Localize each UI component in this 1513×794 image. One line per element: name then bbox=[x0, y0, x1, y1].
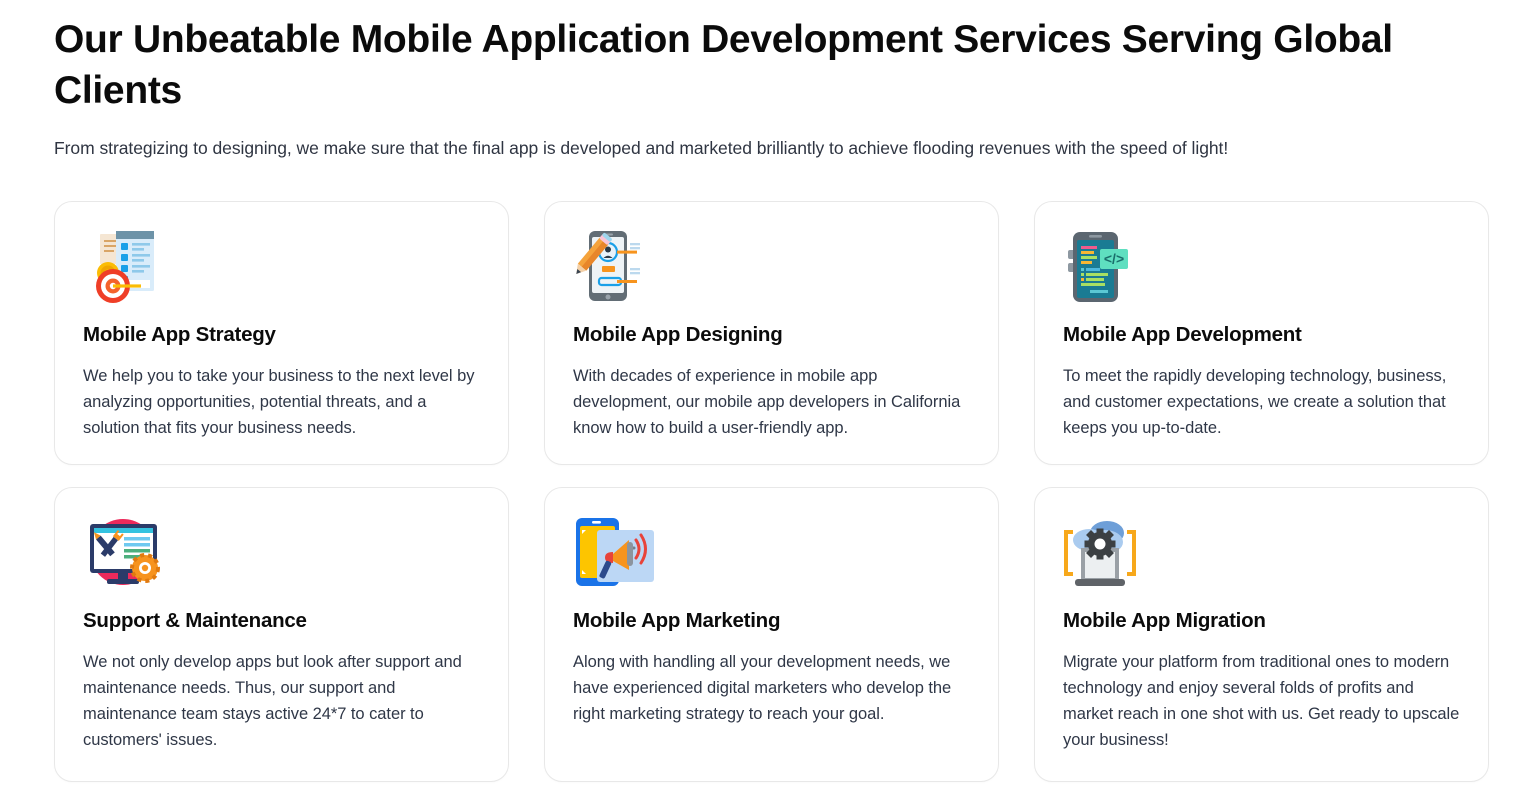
service-card-mobile-app-strategy[interactable]: $ Mobile App Strategy We help you to tak… bbox=[54, 201, 509, 465]
card-title: Mobile App Development bbox=[1063, 322, 1460, 348]
service-card-mobile-app-development[interactable]: </> Mobile App Development To meet the r… bbox=[1034, 201, 1489, 465]
card-description: Along with handling all your development… bbox=[573, 649, 970, 727]
page-subtitle: From strategizing to designing, we make … bbox=[54, 136, 1487, 160]
support-monitor-tools-icon bbox=[83, 514, 167, 592]
card-description: We help you to take your business to the… bbox=[83, 363, 480, 441]
marketing-megaphone-phone-icon bbox=[573, 514, 657, 592]
service-card-mobile-app-migration[interactable]: Mobile App Migration Migrate your platfo… bbox=[1034, 487, 1489, 782]
card-title: Mobile App Migration bbox=[1063, 608, 1460, 634]
strategy-target-document-icon: $ bbox=[83, 228, 167, 306]
card-description: We not only develop apps but look after … bbox=[83, 649, 480, 753]
service-card-mobile-app-marketing[interactable]: Mobile App Marketing Along with handling… bbox=[544, 487, 999, 782]
migration-laptop-cloud-gear-icon bbox=[1063, 514, 1147, 592]
card-description: With decades of experience in mobile app… bbox=[573, 363, 970, 441]
card-description: Migrate your platform from traditional o… bbox=[1063, 649, 1460, 753]
service-card-support-maintenance[interactable]: Support & Maintenance We not only develo… bbox=[54, 487, 509, 782]
services-card-grid: $ Mobile App Strategy We help you to tak… bbox=[54, 201, 1487, 782]
services-section: Our Unbeatable Mobile Application Develo… bbox=[0, 0, 1513, 794]
designing-phone-pencil-icon bbox=[573, 228, 657, 306]
svg-text:</>: </> bbox=[1104, 251, 1124, 267]
development-phone-code-icon: </> bbox=[1063, 228, 1147, 306]
card-title: Mobile App Strategy bbox=[83, 322, 480, 348]
card-title: Support & Maintenance bbox=[83, 608, 480, 634]
service-card-mobile-app-designing[interactable]: Mobile App Designing With decades of exp… bbox=[544, 201, 999, 465]
card-description: To meet the rapidly developing technolog… bbox=[1063, 363, 1460, 441]
card-title: Mobile App Marketing bbox=[573, 608, 970, 634]
page-title: Our Unbeatable Mobile Application Develo… bbox=[54, 14, 1464, 116]
card-title: Mobile App Designing bbox=[573, 322, 970, 348]
